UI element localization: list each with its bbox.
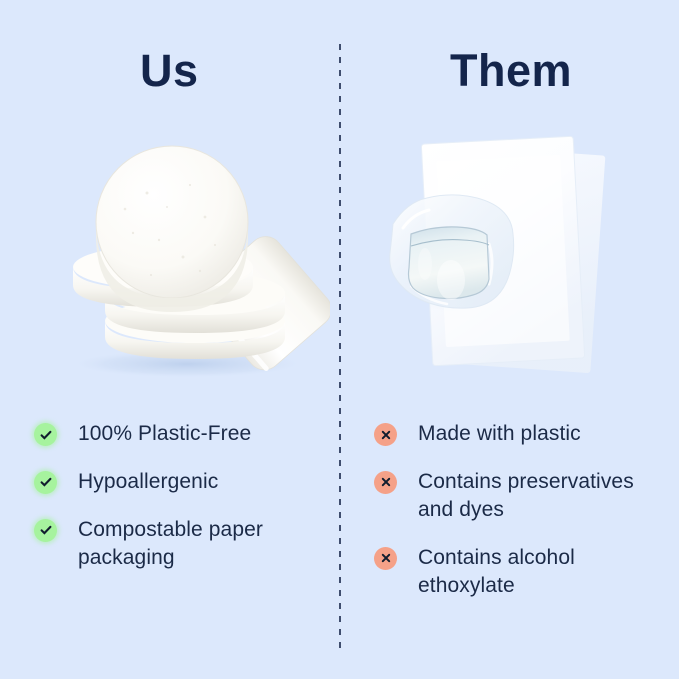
- list-item: Hypoallergenic: [34, 468, 324, 496]
- cross-icon: [374, 471, 397, 494]
- comparison-infographic: Us Them: [0, 0, 679, 679]
- list-item: Contains alcohol ethoxylate: [374, 544, 664, 600]
- check-icon: [34, 519, 57, 542]
- list-item-label: 100% Plastic-Free: [78, 420, 251, 448]
- list-item-label: Contains alcohol ethoxylate: [418, 544, 664, 600]
- list-item: Compostable paper packaging: [34, 516, 324, 572]
- list-item-label: Made with plastic: [418, 420, 581, 448]
- list-item: Made with plastic: [374, 420, 664, 448]
- drawbacks-list-them: Made with plastic Contains preservatives…: [374, 420, 664, 620]
- list-item: Contains preservatives and dyes: [374, 468, 664, 524]
- cross-icon: [374, 547, 397, 570]
- benefits-list-us: 100% Plastic-Free Hypoallergenic Compost…: [34, 420, 324, 592]
- product-image-plastic-sheets-and-pod: [385, 128, 640, 390]
- page-title-us: Us: [140, 48, 199, 93]
- check-icon: [34, 423, 57, 446]
- front-tablet: [96, 146, 248, 312]
- product-image-tablets: [55, 145, 330, 395]
- list-item: 100% Plastic-Free: [34, 420, 324, 448]
- liquid-detergent-pod: [390, 195, 514, 308]
- column-divider: [339, 44, 341, 648]
- list-item-label: Contains preservatives and dyes: [418, 468, 664, 524]
- list-item-label: Compostable paper packaging: [78, 516, 324, 572]
- cross-icon: [374, 423, 397, 446]
- page-title-them: Them: [450, 48, 572, 93]
- list-item-label: Hypoallergenic: [78, 468, 218, 496]
- check-icon: [34, 471, 57, 494]
